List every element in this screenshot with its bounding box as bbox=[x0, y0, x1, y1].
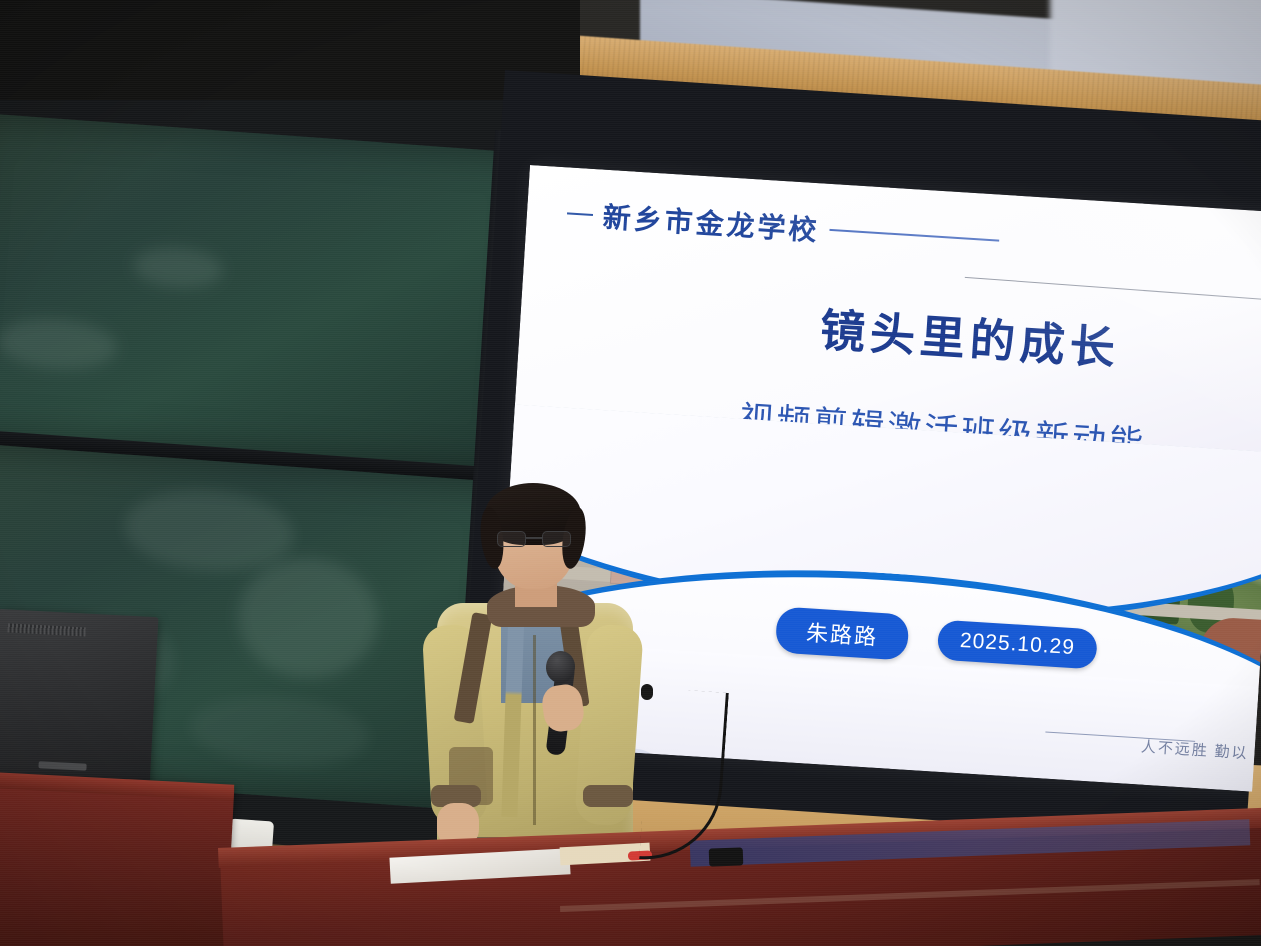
board-overhang-shadow bbox=[0, 0, 580, 100]
chalkboard-panel-upper bbox=[0, 112, 535, 472]
decor-rule-left bbox=[567, 212, 593, 216]
eyeglasses-icon bbox=[497, 531, 571, 547]
presenter-name-badge: 朱路路 bbox=[775, 606, 910, 660]
gooseneck-stem bbox=[639, 687, 729, 864]
gooseneck-capsule bbox=[641, 684, 653, 700]
decor-rule-right bbox=[829, 229, 999, 241]
monitor-vent bbox=[7, 623, 85, 636]
presenter-cuff-right bbox=[583, 785, 633, 807]
gooseneck-microphone bbox=[645, 690, 735, 870]
slide-title: 镜头里的成长 bbox=[818, 294, 1122, 378]
screenshot-root: ⌒ ⌒ ⌒ 新乡市金龙学校 镜头里的成长 视频剪辑激活班级新动能 bbox=[0, 0, 1261, 946]
computer-monitor bbox=[0, 609, 158, 792]
presentation-date-badge: 2025.10.29 bbox=[937, 620, 1098, 670]
slide-hairline bbox=[965, 277, 1261, 301]
monitor-logo bbox=[38, 761, 86, 771]
presenter-jacket-zipper bbox=[533, 635, 536, 825]
gooseneck-base bbox=[709, 847, 744, 866]
slide-school-name: 新乡市金龙学校 bbox=[602, 196, 821, 250]
lectern bbox=[0, 776, 234, 946]
slide-school-name-row: 新乡市金龙学校 bbox=[566, 193, 1001, 260]
